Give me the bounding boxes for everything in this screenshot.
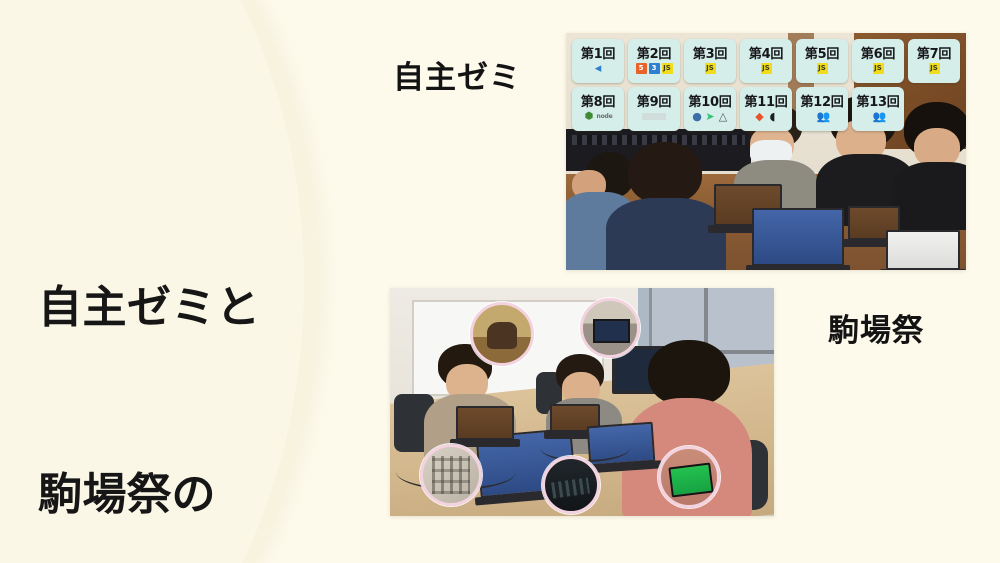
people-icon: 👥 [873, 111, 884, 122]
html5-icon: 5 [636, 63, 647, 74]
session-card-icons: ● ➤ △ [692, 111, 729, 123]
torso [606, 198, 726, 270]
person-navy-shirt [610, 142, 722, 270]
session-card-3[interactable]: 第3回 JS [684, 39, 736, 83]
session-card-title: 第11回 [745, 96, 788, 109]
bubble-cityscape-thumbnail [420, 444, 482, 506]
laptop-blue-center [752, 208, 844, 266]
session-card-5[interactable]: 第5回 JS [796, 39, 848, 83]
photo-komabasai [390, 288, 774, 516]
torso [892, 162, 966, 230]
session-card-icons: 👥 [817, 111, 828, 123]
bubble-dark-screen-thumbnail [542, 456, 600, 514]
page-title-line-2: 駒場祭の [38, 464, 338, 526]
slide-canvas: 自主ゼミと 駒場祭の キックオフ をしました 自主ゼミ 駒場祭 [0, 0, 1000, 563]
session-card-icons [642, 111, 666, 123]
session-card-13[interactable]: 第13回 👥 [852, 87, 904, 131]
session-card-4[interactable]: 第4回 JS [740, 39, 792, 83]
session-card-title: 第4回 [749, 48, 783, 61]
page-title: 自主ゼミと 駒場祭の キックオフ をしました [38, 152, 338, 563]
session-card-12[interactable]: 第12回 👥 [796, 87, 848, 131]
head [628, 142, 702, 204]
session-card-title: 第3回 [693, 48, 727, 61]
session-card-title: 第5回 [805, 48, 839, 61]
session-card-icons: JS [873, 63, 884, 75]
session-card-7[interactable]: 第7回 JS [908, 39, 960, 83]
label-komabasai: 駒場祭 [828, 305, 924, 350]
javascript-icon: JS [761, 63, 772, 74]
blurred-logo-icon [642, 113, 666, 120]
page-title-line-1: 自主ゼミと [38, 277, 338, 339]
bubble-laptop-screen-thumbnail [580, 298, 640, 358]
javascript-icon: JS [873, 63, 884, 74]
laptop-lid [752, 208, 844, 266]
session-card-icons: ⬢ node [584, 111, 613, 123]
session-card-11[interactable]: 第11回 ◆ ◖ [740, 87, 792, 131]
session-card-title: 第1回 [581, 48, 615, 61]
javascript-icon: JS [662, 63, 673, 74]
laptop-lid [886, 230, 960, 270]
session-card-icons: ◆ ◖ [754, 111, 778, 123]
laptop-base [746, 265, 850, 270]
laptop-white-right [886, 230, 960, 270]
session-card-row-1: 第1回 ◂ 第2回 5 3 JS 第3回 JS [572, 39, 960, 83]
github-icon: ◖ [767, 111, 778, 122]
node-icon: ⬢ [584, 111, 595, 122]
node-wordmark-icon: node [597, 113, 613, 120]
session-card-icons: ◂ [592, 63, 605, 75]
postgresql-icon: ● [692, 111, 703, 122]
session-card-title: 第10回 [689, 96, 732, 109]
photo-jishu-zemi: 第1回 ◂ 第2回 5 3 JS 第3回 JS [566, 33, 966, 270]
session-card-icons: JS [929, 63, 940, 75]
session-card-title: 第2回 [637, 48, 671, 61]
session-card-title: 第9回 [637, 96, 671, 109]
session-card-icons: JS [705, 63, 716, 75]
session-card-title: 第12回 [801, 96, 844, 109]
label-jishu-zemi: 自主ゼミ [393, 52, 521, 97]
session-card-6[interactable]: 第6回 JS [852, 39, 904, 83]
bubble-green-game-screen-thumbnail [658, 446, 720, 508]
laptop-lid [456, 406, 514, 440]
session-card-icons: 👥 [873, 111, 884, 123]
laptop-base [880, 269, 966, 270]
session-card-10[interactable]: 第10回 ● ➤ △ [684, 87, 736, 131]
javascript-icon: JS [929, 63, 940, 74]
css3-icon: 3 [649, 63, 660, 74]
session-card-9[interactable]: 第9回 [628, 87, 680, 131]
supabase-icon: ➤ [705, 111, 716, 122]
session-card-title: 第7回 [917, 48, 951, 61]
session-card-title: 第13回 [857, 96, 900, 109]
javascript-icon: JS [817, 63, 828, 74]
session-card-icons: JS [817, 63, 828, 75]
session-card-title: 第6回 [861, 48, 895, 61]
head [648, 340, 730, 406]
prisma-icon: △ [718, 111, 729, 122]
session-card-row-2: 第8回 ⬢ node 第9回 第10回 ● ➤ [572, 87, 960, 131]
people-icon: 👥 [817, 111, 828, 122]
session-card-8[interactable]: 第8回 ⬢ node [572, 87, 624, 131]
session-card-grid: 第1回 ◂ 第2回 5 3 JS 第3回 JS [572, 39, 960, 131]
session-card-title: 第8回 [581, 96, 615, 109]
bubble-horse-thumbnail [470, 302, 534, 366]
laptop-left-brown [456, 406, 514, 440]
session-card-1[interactable]: 第1回 ◂ [572, 39, 624, 83]
javascript-icon: JS [705, 63, 716, 74]
cable-2 [540, 434, 630, 462]
session-card-2[interactable]: 第2回 5 3 JS [628, 39, 680, 83]
session-card-icons: 5 3 JS [636, 63, 673, 75]
vscode-icon: ◂ [592, 62, 605, 75]
git-icon: ◆ [754, 111, 765, 122]
session-card-icons: JS [761, 63, 772, 75]
